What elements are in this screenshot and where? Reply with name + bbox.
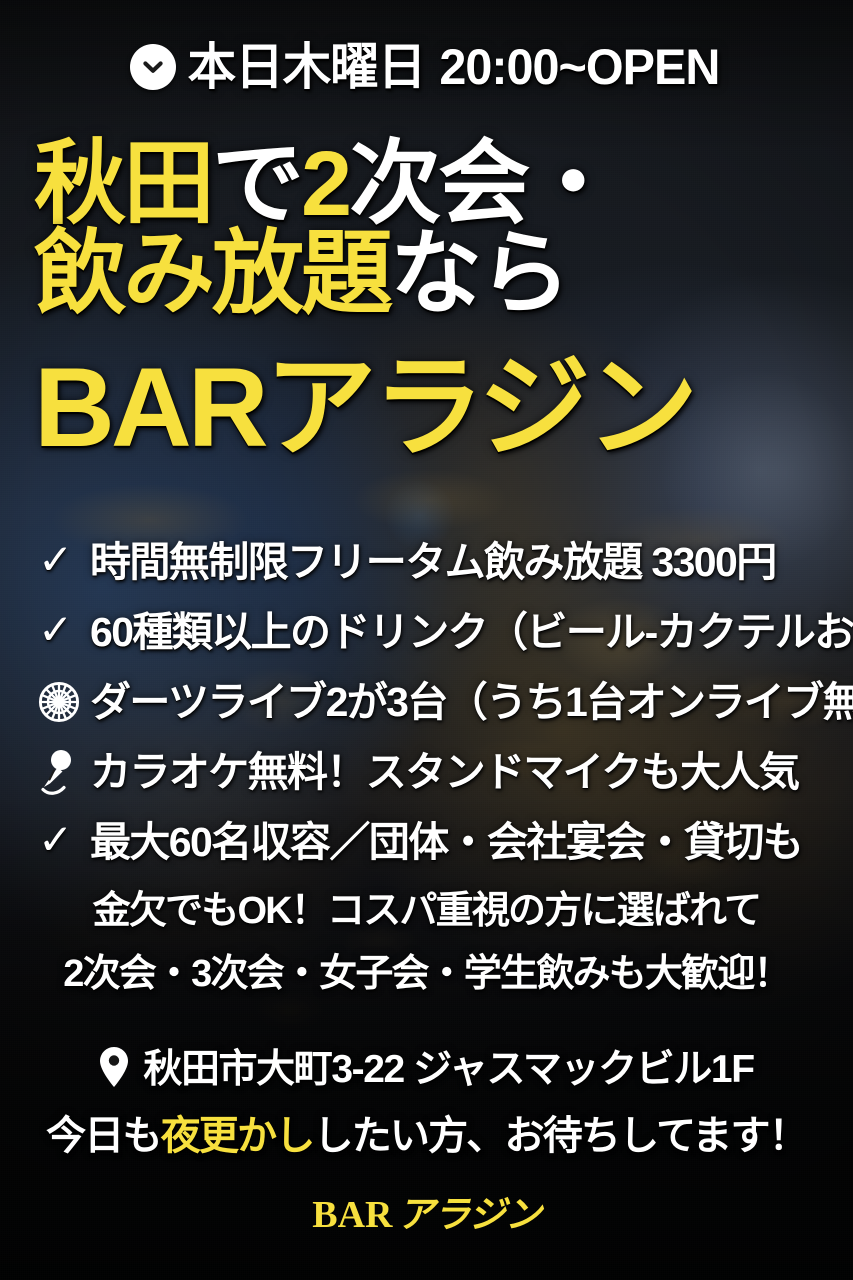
list-item: ✓ 時間無制限フリータム飲み放題 3300円 bbox=[0, 527, 853, 597]
check-icon: ✓ bbox=[38, 821, 90, 863]
check-icon: ✓ bbox=[38, 611, 90, 653]
feature-text: ダーツライブ2が3台 bbox=[90, 682, 447, 723]
brand-name: BARアラジン bbox=[0, 352, 853, 464]
check-icon: ✓ bbox=[38, 541, 90, 583]
address-row: 秋田市大町3-22 ジャスマックビル1F bbox=[0, 1046, 853, 1093]
list-item: ✓ 最大60名収容／団体・会社宴会・貸切も bbox=[0, 807, 853, 877]
feature-note: （うち1台オンライブ bbox=[447, 682, 823, 723]
headline-nijikai: 次会・ bbox=[349, 133, 616, 235]
microphone-icon bbox=[38, 748, 90, 796]
feature-text: 時間無制限フリータム飲み放題 3300円 bbox=[90, 542, 776, 583]
page-title: 秋田で2次会・ 飲み放題なら bbox=[0, 140, 853, 319]
promo-paragraph: 金欠でもOK！コスパ重視の方に選ばれて 2次会・3次会・女子会・学生飲みも大歓迎… bbox=[0, 892, 853, 993]
headline-city: 秋田 bbox=[34, 133, 212, 235]
feature-text: 最大60名収容／団体・会社宴会・貸切も bbox=[90, 822, 802, 863]
footer-logo: BARアラジン bbox=[0, 1196, 853, 1234]
location-pin-icon bbox=[99, 1046, 129, 1093]
closing-highlight: 夜更かし bbox=[161, 1114, 314, 1158]
header-time-label: 20:00~OPEN bbox=[439, 42, 719, 92]
headline-nomihoudai: 飲み放題 bbox=[34, 223, 390, 325]
headline-nara: なら bbox=[390, 223, 568, 325]
address-text: 秋田市大町3-22 ジャスマックビル1F bbox=[143, 1050, 753, 1089]
list-item: ダーツライブ2が3台 （うち1台オンライブ 無料 bbox=[0, 667, 853, 737]
headline-particle-de: で bbox=[212, 133, 301, 235]
promo-poster: 本日木曜日 20:00~OPEN 秋田で2次会・ 飲み放題なら BARアラジン … bbox=[0, 0, 853, 1280]
header-row: 本日木曜日 20:00~OPEN bbox=[0, 42, 853, 92]
feature-note-tail: 無料 bbox=[823, 682, 853, 723]
feature-text: カラオケ無料！スタンドマイクも大人気 bbox=[90, 752, 798, 793]
feature-list: ✓ 時間無制限フリータム飲み放題 3300円 ✓ 60種類以上のドリンク （ビー… bbox=[0, 527, 853, 877]
headline-number-2: 2 bbox=[301, 133, 349, 235]
footer-logo-bar: BAR bbox=[312, 1194, 392, 1236]
closing-message: 今日も夜更かししたい方、お待ちしてます！ bbox=[0, 1116, 853, 1156]
feature-text: 60種類以上のドリンク bbox=[90, 612, 487, 653]
closing-part-1: 今日も bbox=[46, 1114, 161, 1158]
promo-paragraph-line-2: 2次会・3次会・女子会・学生飲みも大歓迎！ bbox=[0, 955, 853, 993]
header-day-label: 本日木曜日 bbox=[187, 42, 425, 92]
closing-part-3: したい方、お待ちしてます！ bbox=[314, 1114, 807, 1158]
dartboard-icon bbox=[38, 681, 90, 723]
footer-logo-kana: アラジン bbox=[397, 1194, 540, 1235]
chevron-down-circle-icon bbox=[130, 44, 176, 90]
feature-note: （ビール‐カクテルおり） bbox=[487, 612, 853, 653]
list-item: カラオケ無料！スタンドマイクも大人気 bbox=[0, 737, 853, 807]
poster-content: 本日木曜日 20:00~OPEN 秋田で2次会・ 飲み放題なら BARアラジン … bbox=[0, 0, 853, 1280]
list-item: ✓ 60種類以上のドリンク （ビール‐カクテルおり） bbox=[0, 597, 853, 667]
promo-paragraph-line-1: 金欠でもOK！コスパ重視の方に選ばれて bbox=[0, 892, 853, 930]
